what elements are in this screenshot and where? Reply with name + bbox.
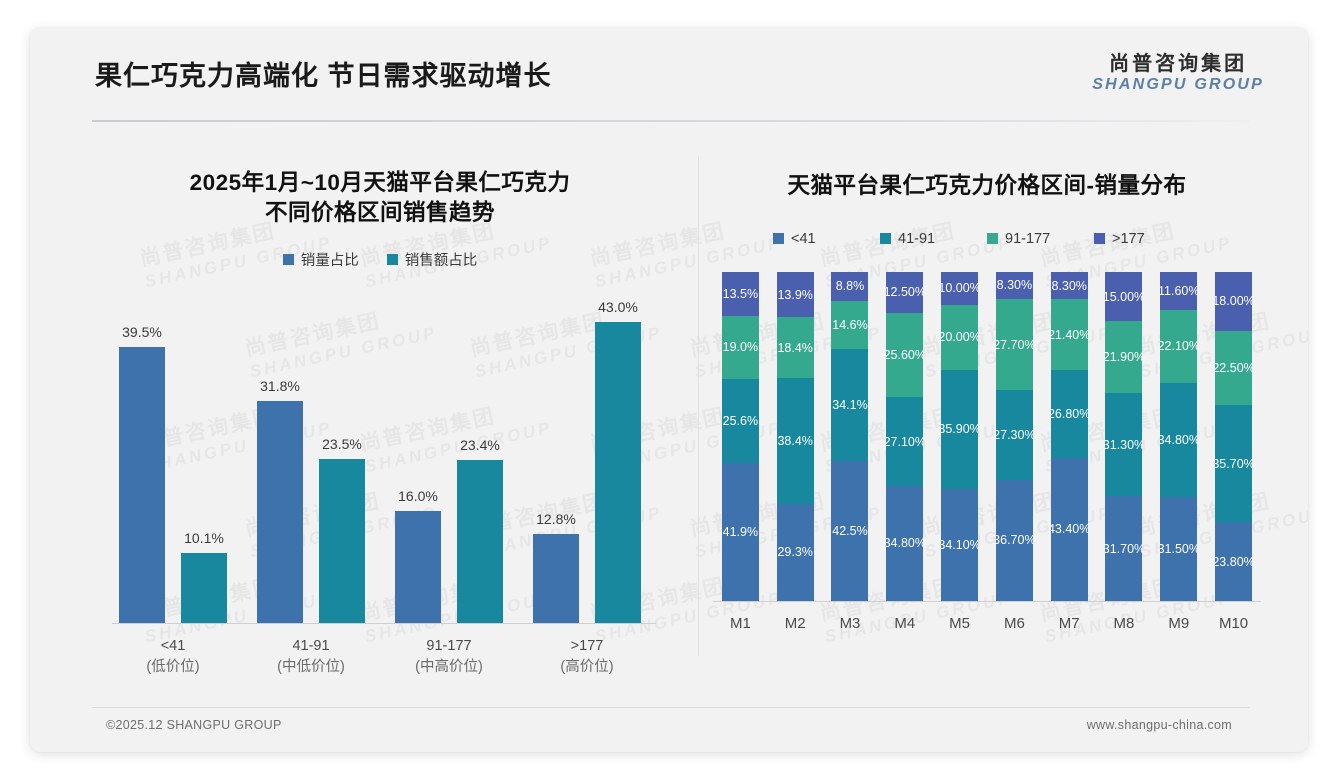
stack-segment-label: 22.10% (1160, 339, 1197, 353)
bar-rect (319, 459, 365, 624)
legend-label: <41 (791, 231, 816, 247)
page-title: 果仁巧克力高端化 节日需求驱动增长 (95, 54, 552, 93)
stack-segment-M10-0[interactable]: 23.80% (1215, 522, 1252, 600)
legend-swatch-icon (1094, 233, 1105, 244)
stack-segment-label: 21.40% (1051, 328, 1088, 342)
bar-rect (119, 347, 165, 624)
stacked-column-M3: 42.5%34.1%14.6%8.8% (823, 272, 878, 601)
stack-M7[interactable]: 43.40%26.80%21.40%8.30% (1051, 272, 1088, 601)
right-chart-x-axis-line (713, 601, 1261, 602)
bar-41-91-series-1[interactable]: 23.5% (319, 459, 365, 624)
stack-M2[interactable]: 29.3%38.4%18.4%13.9% (777, 272, 814, 601)
stack-segment-label: 18.4% (777, 341, 812, 355)
stack-segment-M10-3[interactable]: 18.00% (1215, 272, 1252, 331)
bar-<41-series-1[interactable]: 10.1% (181, 553, 227, 624)
stack-segment-label: 31.50% (1160, 542, 1197, 556)
grouped-bar-plot: 39.5%10.1%31.8%23.5%16.0%23.4%12.8%43.0% (104, 294, 656, 624)
stack-segment-M3-0[interactable]: 42.5% (831, 461, 868, 601)
bar-rect (257, 401, 303, 624)
stack-M8[interactable]: 31.70%31.30%21.90%15.00% (1105, 272, 1142, 601)
brand-logo: 尚普咨询集团 SHANGPU GROUP (1092, 53, 1264, 94)
bar-rect (533, 534, 579, 624)
stack-segment-M2-0[interactable]: 29.3% (777, 504, 814, 600)
stack-segment-M5-2[interactable]: 20.00% (941, 305, 978, 371)
stack-segment-M6-3[interactable]: 8.30% (996, 272, 1033, 299)
bar-rect (181, 553, 227, 624)
stack-segment-M10-2[interactable]: 22.50% (1215, 331, 1252, 405)
x-tick-sub: (中高价位) (380, 657, 518, 678)
x-tick-41-91: 41-91(中低价位) (242, 636, 380, 678)
x-tick-91-177: 91-177(中高价位) (380, 636, 518, 678)
footer-website: www.shangpu-china.com (1087, 718, 1232, 732)
stack-segment-M8-1[interactable]: 31.30% (1105, 393, 1142, 496)
stack-segment-label: 34.80% (886, 536, 923, 550)
x-tick-sub: (中低价位) (242, 657, 380, 678)
stacked-column-M4: 34.80%27.10%25.60%12.50% (877, 272, 932, 601)
stack-segment-label: 8.8% (836, 279, 865, 293)
stack-segment-label: 35.70% (1215, 457, 1252, 471)
legend-label: 91-177 (1005, 231, 1050, 247)
bar-value-label: 39.5% (122, 324, 162, 340)
legend-swatch-icon (987, 233, 998, 244)
left-chart-panel: 2025年1月~10月天猫平台果仁巧克力 不同价格区间销售趋势 销量占比销售额占… (70, 138, 690, 698)
stacked-column-M7: 43.40%26.80%21.40%8.30% (1042, 272, 1097, 601)
bar-group-41-91: 31.8%23.5% (242, 294, 380, 623)
stack-segment-M4-0[interactable]: 34.80% (886, 486, 923, 600)
left-chart-title-line2: 不同价格区间销售趋势 (70, 198, 690, 228)
legend-label: >177 (1112, 231, 1145, 247)
month-tick-M1: M1 (713, 615, 768, 632)
stack-segment-label: 25.6% (723, 414, 758, 428)
stacked-column-M6: 36.70%27.30%27.70%8.30% (987, 272, 1042, 601)
month-tick-M5: M5 (932, 615, 987, 632)
stack-segment-M3-1[interactable]: 34.1% (831, 349, 868, 461)
stack-segment-label: 19.0% (723, 340, 758, 354)
stack-segment-label: 31.30% (1105, 438, 1142, 452)
legend-swatch-icon (773, 233, 784, 244)
stack-segment-M4-3[interactable]: 12.50% (886, 272, 923, 313)
stack-segment-label: 29.3% (777, 545, 812, 559)
footer-divider (92, 707, 1250, 708)
logo-chinese-text: 尚普咨询集团 (1092, 53, 1264, 76)
month-tick-M7: M7 (1042, 615, 1097, 632)
stack-segment-label: 26.80% (1051, 407, 1088, 421)
logo-english-text: SHANGPU GROUP (1092, 76, 1264, 94)
bar-value-label: 23.4% (460, 437, 500, 453)
stack-segment-label: 43.40% (1051, 522, 1088, 536)
stack-segment-label: 8.30% (1051, 279, 1086, 293)
bar-91-177-series-0[interactable]: 16.0% (395, 511, 441, 623)
stack-segment-label: 34.10% (941, 538, 978, 552)
stack-segment-label: 13.5% (723, 287, 758, 301)
x-tick-sub: (低价位) (104, 657, 242, 678)
right-chart-legend-item-2[interactable]: 91-177 (987, 231, 1094, 247)
right-chart-title: 天猫平台果仁巧克力价格区间-销量分布 (702, 171, 1272, 201)
stack-segment-M9-3[interactable]: 11.60% (1160, 272, 1197, 310)
stack-segment-M7-0[interactable]: 43.40% (1051, 458, 1088, 601)
stack-segment-label: 11.60% (1160, 284, 1197, 298)
month-tick-M9: M9 (1151, 615, 1206, 632)
stack-segment-label: 42.5% (832, 524, 867, 538)
stack-segment-label: 8.30% (997, 278, 1032, 292)
stack-M9[interactable]: 31.50%34.80%22.10%11.60% (1160, 272, 1197, 601)
bar-rect (595, 322, 641, 623)
stack-segment-label: 36.70% (996, 533, 1033, 547)
stack-segment-M9-0[interactable]: 31.50% (1160, 497, 1197, 601)
x-tick-main: >177 (518, 636, 656, 657)
stacked-bar-plot: 41.9%25.6%19.0%13.5%29.3%38.4%18.4%13.9%… (713, 272, 1261, 602)
left-chart-title-line1: 2025年1月~10月天猫平台果仁巧克力 (70, 168, 690, 198)
left-chart-legend: 销量占比销售额占比 (70, 249, 690, 270)
stack-M5[interactable]: 34.10%35.90%20.00%10.00% (941, 272, 978, 601)
stacked-column-M9: 31.50%34.80%22.10%11.60% (1151, 272, 1206, 601)
legend-label: 41-91 (898, 231, 935, 247)
bar-<41-series-0[interactable]: 39.5% (119, 347, 165, 624)
stack-M10[interactable]: 23.80%35.70%22.50%18.00% (1215, 272, 1252, 601)
stacked-column-M5: 34.10%35.90%20.00%10.00% (932, 272, 987, 601)
stack-segment-M7-2[interactable]: 21.40% (1051, 299, 1088, 369)
stack-segment-M8-0[interactable]: 31.70% (1105, 496, 1142, 600)
stack-segment-M7-3[interactable]: 8.30% (1051, 272, 1088, 299)
stacked-column-M8: 31.70%31.30%21.90%15.00% (1097, 272, 1152, 601)
x-tick->177: >177(高价位) (518, 636, 656, 678)
right-chart-legend: <4141-9191-177>177 (702, 231, 1272, 247)
stack-M4[interactable]: 34.80%27.10%25.60%12.50% (886, 272, 923, 601)
bar-value-label: 43.0% (598, 299, 638, 315)
stack-segment-label: 35.90% (941, 422, 978, 436)
stack-segment-M1-3[interactable]: 13.5% (722, 272, 759, 316)
month-tick-M10: M10 (1206, 615, 1261, 632)
stack-segment-M7-1[interactable]: 26.80% (1051, 370, 1088, 458)
stack-segment-M1-2[interactable]: 19.0% (722, 316, 759, 379)
bar-group->177: 12.8%43.0% (518, 294, 656, 623)
bar-value-label: 16.0% (398, 488, 438, 504)
stack-segment-label: 13.9% (777, 288, 812, 302)
legend-swatch-icon (880, 233, 891, 244)
stack-M1[interactable]: 41.9%25.6%19.0%13.5% (722, 272, 759, 601)
right-chart-x-axis-labels: M1M2M3M4M5M6M7M8M9M10 (713, 615, 1261, 632)
stack-segment-label: 41.9% (723, 525, 758, 539)
stack-segment-M5-1[interactable]: 35.90% (941, 370, 978, 488)
slide-card: 果仁巧克力高端化 节日需求驱动增长 尚普咨询集团 SHANGPU GROUP 尚… (30, 28, 1308, 752)
grouped-bar-groups: 39.5%10.1%31.8%23.5%16.0%23.4%12.8%43.0% (104, 294, 656, 623)
stack-segment-M1-0[interactable]: 41.9% (722, 463, 759, 601)
legend-swatch-icon (283, 254, 294, 265)
stack-segment-label: 21.90% (1105, 350, 1142, 364)
bar-91-177-series-1[interactable]: 23.4% (457, 460, 503, 624)
stack-segment-label: 12.50% (886, 285, 923, 299)
stack-segment-M9-2[interactable]: 22.10% (1160, 310, 1197, 383)
stack-segment-M2-1[interactable]: 38.4% (777, 378, 814, 504)
legend-swatch-icon (387, 254, 398, 265)
stack-segment-M2-2[interactable]: 18.4% (777, 317, 814, 378)
stack-segment-M9-1[interactable]: 34.80% (1160, 383, 1197, 497)
month-tick-M2: M2 (768, 615, 823, 632)
stack-segment-label: 25.60% (886, 348, 923, 362)
stacked-column-M2: 29.3%38.4%18.4%13.9% (768, 272, 823, 601)
stack-segment-label: 14.6% (832, 318, 867, 332)
stack-segment-M10-1[interactable]: 35.70% (1215, 405, 1252, 522)
stacked-column-M10: 23.80%35.70%22.50%18.00% (1206, 272, 1261, 601)
left-chart-x-axis-line (112, 623, 656, 624)
right-chart-legend-item-0[interactable]: <41 (773, 231, 880, 247)
bar-rect (395, 511, 441, 623)
right-chart-legend-item-1[interactable]: 41-91 (880, 231, 987, 247)
left-chart-legend-item-1[interactable]: 销售额占比 (387, 249, 478, 270)
stack-segment-M6-2[interactable]: 27.70% (996, 299, 1033, 390)
slide-page: 果仁巧克力高端化 节日需求驱动增长 尚普咨询集团 SHANGPU GROUP 尚… (0, 0, 1340, 780)
legend-label: 销售额占比 (405, 249, 478, 270)
stack-segment-M8-2[interactable]: 21.90% (1105, 321, 1142, 393)
stack-segment-M6-0[interactable]: 36.70% (996, 480, 1033, 601)
stack-segment-M5-0[interactable]: 34.10% (941, 489, 978, 601)
stack-segment-M5-3[interactable]: 10.00% (941, 272, 978, 305)
bar-value-label: 31.8% (260, 378, 300, 394)
bar-group-91-177: 16.0%23.4% (380, 294, 518, 623)
stack-segment-label: 27.70% (996, 338, 1033, 352)
stack-segment-M3-2[interactable]: 14.6% (831, 301, 868, 349)
stack-segment-label: 27.30% (996, 428, 1033, 442)
stack-segment-M2-3[interactable]: 13.9% (777, 272, 814, 318)
month-tick-M3: M3 (823, 615, 878, 632)
bar-group-<41: 39.5%10.1% (104, 294, 242, 623)
left-chart-title: 2025年1月~10月天猫平台果仁巧克力 不同价格区间销售趋势 (70, 168, 690, 227)
footer-copyright: ©2025.12 SHANGPU GROUP (106, 718, 282, 732)
right-chart-legend-item-3[interactable]: >177 (1094, 231, 1201, 247)
x-tick-main: <41 (104, 636, 242, 657)
stack-segment-M3-3[interactable]: 8.8% (831, 272, 868, 301)
stack-segment-label: 31.70% (1105, 542, 1142, 556)
bar-value-label: 10.1% (184, 530, 224, 546)
x-tick-main: 41-91 (242, 636, 380, 657)
bar-value-label: 12.8% (536, 511, 576, 527)
bar-value-label: 23.5% (322, 436, 362, 452)
header-divider (92, 120, 1250, 122)
month-tick-M4: M4 (877, 615, 932, 632)
x-tick-main: 91-177 (380, 636, 518, 657)
stack-segment-M1-1[interactable]: 25.6% (722, 379, 759, 463)
stack-segment-label: 22.50% (1215, 361, 1252, 375)
panel-divider (698, 156, 699, 656)
stack-M3[interactable]: 42.5%34.1%14.6%8.8% (831, 272, 868, 601)
stack-segment-label: 38.4% (777, 434, 812, 448)
stack-segment-label: 23.80% (1215, 555, 1252, 569)
month-tick-M8: M8 (1097, 615, 1152, 632)
stack-M6[interactable]: 36.70%27.30%27.70%8.30% (996, 272, 1033, 601)
stack-segment-label: 34.80% (1160, 433, 1197, 447)
stack-segment-M4-2[interactable]: 25.60% (886, 313, 923, 397)
stack-segment-M4-1[interactable]: 27.10% (886, 397, 923, 486)
stacked-bar-columns: 41.9%25.6%19.0%13.5%29.3%38.4%18.4%13.9%… (713, 272, 1261, 601)
stack-segment-M6-1[interactable]: 27.30% (996, 390, 1033, 480)
header: 果仁巧克力高端化 节日需求驱动增长 尚普咨询集团 SHANGPU GROUP (30, 28, 1308, 121)
bar-41-91-series-0[interactable]: 31.8% (257, 401, 303, 624)
stack-segment-label: 15.00% (1105, 290, 1142, 304)
stack-segment-label: 20.00% (941, 330, 978, 344)
left-chart-legend-item-0[interactable]: 销量占比 (283, 249, 359, 270)
stack-segment-label: 34.1% (832, 398, 867, 412)
bar->177-series-0[interactable]: 12.8% (533, 534, 579, 624)
left-chart-x-axis-labels: <41(低价位)41-91(中低价位)91-177(中高价位)>177(高价位) (104, 636, 656, 678)
stack-segment-label: 18.00% (1215, 294, 1252, 308)
month-tick-M6: M6 (987, 615, 1042, 632)
stack-segment-label: 10.00% (941, 281, 978, 295)
bar-rect (457, 460, 503, 624)
right-chart-panel: 天猫平台果仁巧克力价格区间-销量分布 <4141-9191-177>177 41… (702, 138, 1272, 698)
stack-segment-label: 27.10% (886, 435, 923, 449)
bar->177-series-1[interactable]: 43.0% (595, 322, 641, 623)
legend-label: 销量占比 (301, 249, 359, 270)
x-tick-sub: (高价位) (518, 657, 656, 678)
stacked-column-M1: 41.9%25.6%19.0%13.5% (713, 272, 768, 601)
x-tick-<41: <41(低价位) (104, 636, 242, 678)
stack-segment-M8-3[interactable]: 15.00% (1105, 272, 1142, 321)
